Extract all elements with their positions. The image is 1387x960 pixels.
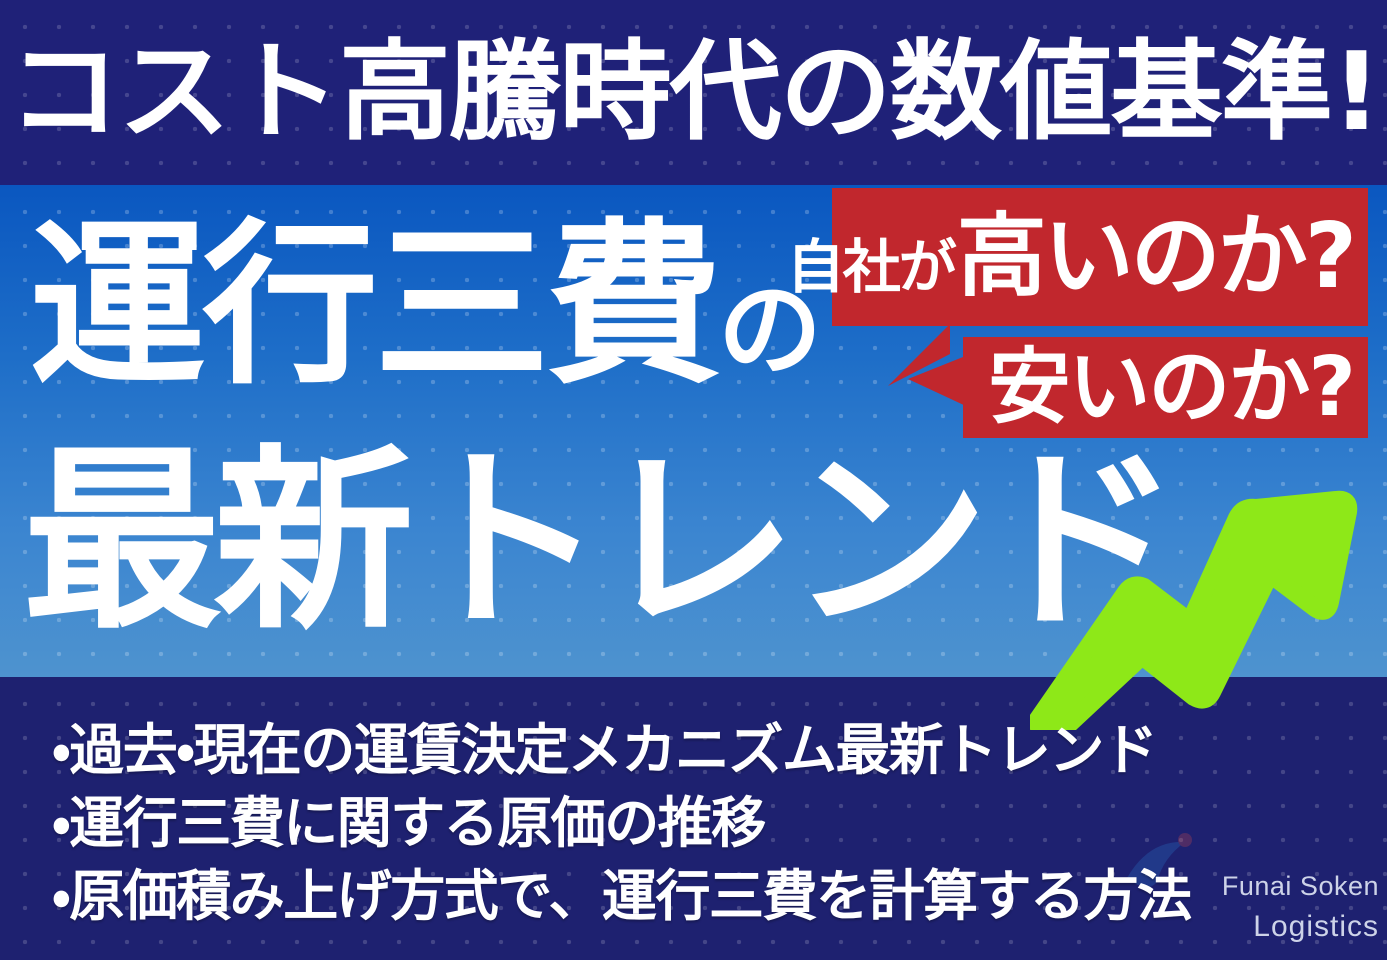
bullet-list: ・過去・現在の運賃決定メカニズム最新トレンド ・運行三費に関する原価の推移 ・原… bbox=[52, 714, 1191, 933]
callout-expensive-lead: 自社が bbox=[787, 238, 955, 296]
headline-line-1-main: 運行三費 bbox=[30, 203, 718, 408]
headline-line-2: 最新トレンド bbox=[22, 444, 1173, 640]
callout-cheap-tail-icon bbox=[908, 355, 968, 407]
callout-cheap[interactable]: 安いのか? bbox=[963, 337, 1368, 438]
callout-expensive[interactable]: 自社が 高いのか? bbox=[832, 188, 1368, 326]
bullet-item-2: ・運行三費に関する原価の推移 bbox=[52, 787, 1191, 860]
headline-line-1: 運行三費の bbox=[30, 218, 820, 394]
callout-expensive-text: 自社が 高いのか? bbox=[787, 212, 1354, 302]
callout-cheap-text: 安いのか? bbox=[988, 347, 1354, 429]
header-title: コスト高騰時代の数値基準! bbox=[7, 39, 1379, 147]
watermark-line-2: Logistics bbox=[1253, 910, 1379, 944]
promotional-banner: コスト高騰時代の数値基準! 運行三費の 最新トレンド 自社が 高いのか? 安いの… bbox=[0, 0, 1387, 960]
callout-expensive-main: 高いのか? bbox=[957, 212, 1354, 302]
bullet-item-1: ・過去・現在の運賃決定メカニズム最新トレンド bbox=[52, 714, 1191, 787]
bullet-item-3: ・原価積み上げ方式で、運行三費を計算する方法 bbox=[52, 860, 1191, 933]
callout-cheap-main: 安いのか? bbox=[988, 347, 1354, 429]
header-band: コスト高騰時代の数値基準! bbox=[0, 0, 1387, 185]
watermark-line-1: Funai Soken bbox=[1222, 871, 1379, 902]
